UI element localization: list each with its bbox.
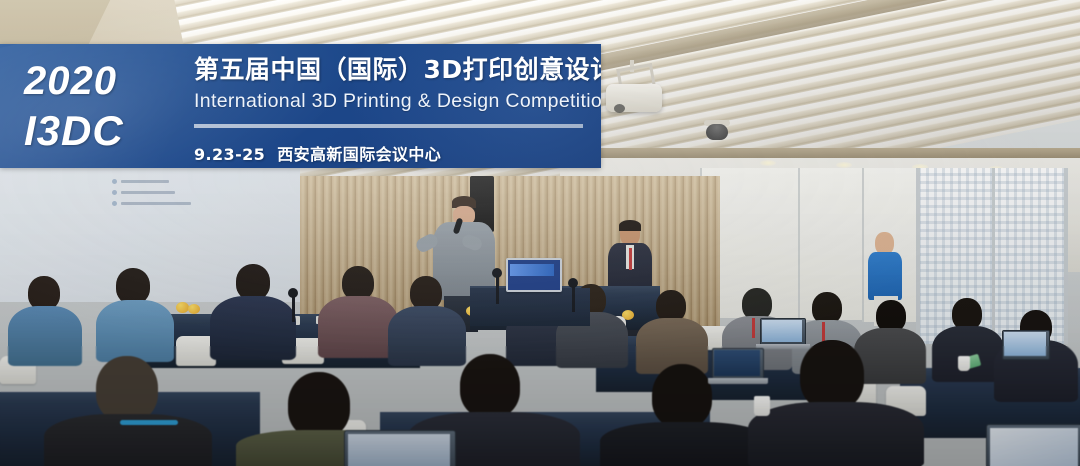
audience-head — [800, 340, 864, 410]
screenshot-root: 2020 I3DC 第五届中国（国际）3D打印创意设计大赛 Internatio… — [0, 0, 1080, 466]
fruit-bowl-item — [188, 304, 200, 314]
lanyard-icon — [629, 248, 632, 270]
coffee-cup — [754, 396, 770, 416]
window-mullion — [992, 168, 995, 344]
event-meta: 9.23-25西安高新国际会议中心 — [194, 141, 587, 165]
laptop-screen-content — [1004, 332, 1046, 356]
microphone-icon — [288, 288, 298, 298]
logo-year: 2020 — [24, 61, 117, 101]
laptop-screen-content — [348, 434, 450, 466]
lanyard-icon — [752, 318, 755, 338]
event-venue: 西安高新国际会议中心 — [277, 145, 441, 164]
slide-text-line — [121, 202, 191, 205]
bullet-icon — [112, 190, 117, 195]
audience-body — [854, 328, 926, 384]
audience-head — [288, 372, 350, 438]
audience-head — [342, 266, 374, 300]
event-title-chinese: 第五届中国（国际）3D打印创意设计大赛 — [194, 56, 587, 84]
slide-text-line — [121, 191, 175, 194]
laptop-screen-content — [990, 428, 1078, 466]
coffee-cup — [958, 356, 970, 371]
audience-body — [748, 402, 924, 466]
back-wall-trim — [560, 148, 1080, 158]
dome-camera-icon — [706, 124, 728, 140]
downlight-icon — [760, 160, 776, 166]
bullet-icon — [112, 179, 117, 184]
event-title-english: International 3D Printing & Design Compe… — [194, 90, 587, 113]
audience-head — [410, 276, 442, 310]
audience-head — [460, 354, 520, 418]
slide-text-line — [121, 180, 169, 183]
audience-body — [600, 422, 770, 466]
attendee-hair — [619, 220, 641, 231]
laptop-screen-content — [762, 320, 802, 342]
microphone-stand — [572, 284, 575, 312]
window-mullion — [1064, 168, 1068, 344]
lanyard-icon — [120, 420, 178, 425]
audience-head — [28, 276, 60, 310]
event-banner: 2020 I3DC 第五届中国（国际）3D打印创意设计大赛 Internatio… — [0, 44, 601, 168]
woman-top — [868, 252, 902, 300]
laptop-screen-content — [714, 350, 760, 376]
audience-body — [210, 296, 296, 360]
microphone-icon — [568, 278, 578, 288]
laptop-base — [756, 344, 810, 349]
lanyard-icon — [822, 322, 825, 342]
audience-head — [96, 356, 158, 422]
audience-head — [652, 364, 712, 428]
podium-monitor-content — [510, 264, 554, 276]
microphone-stand — [496, 274, 499, 304]
banner-divider — [194, 124, 583, 128]
audience-head — [116, 268, 150, 304]
audience-body — [318, 296, 398, 358]
slide-content — [112, 176, 222, 212]
audience-body — [388, 306, 466, 366]
window-mullion — [916, 168, 920, 344]
banner-text-block: 第五届中国（国际）3D打印创意设计大赛 International 3D Pri… — [194, 56, 587, 165]
event-logo: 2020 I3DC — [24, 54, 174, 158]
projector-lens-icon — [614, 104, 625, 113]
bullet-icon — [112, 201, 117, 206]
event-date: 9.23-25 — [194, 145, 265, 164]
microphone-stand — [292, 294, 295, 322]
microphone-icon — [492, 268, 502, 278]
audience-body — [96, 300, 174, 362]
logo-acronym: I3DC — [24, 110, 124, 152]
laptop-base — [708, 378, 768, 384]
audience-body — [8, 306, 82, 366]
audience-head — [236, 264, 270, 300]
